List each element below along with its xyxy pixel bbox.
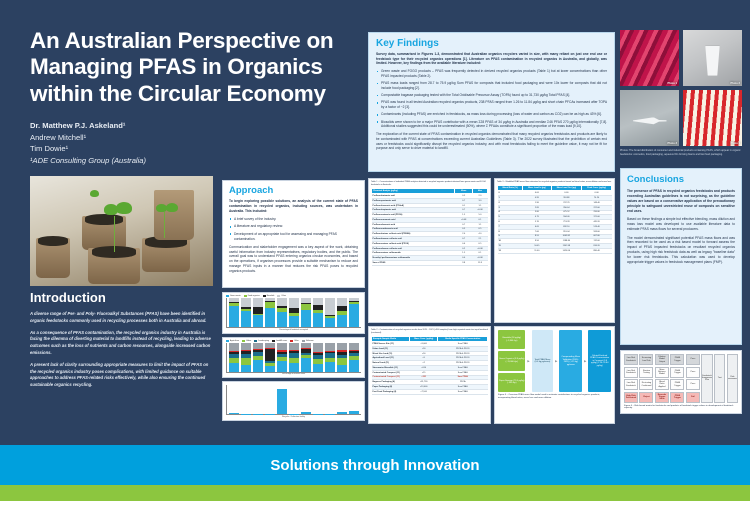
chart-bar xyxy=(253,385,263,414)
chart-bar-segment xyxy=(229,343,239,351)
chart-stack: Green wasteFood organicsBiosolidsOther P… xyxy=(222,292,365,424)
chart-bar-segment xyxy=(349,304,359,327)
flow-inputs-column: Biosolids (34 µg/kg) (~1,800 t/yr) Green… xyxy=(498,330,525,392)
chart-bar xyxy=(253,298,263,327)
key-findings-outro: The exploration of the current state of … xyxy=(376,132,607,151)
matrix-side-box: Test xyxy=(714,354,725,403)
legend-entry: Other xyxy=(277,295,286,297)
arrow-icon: ▶ xyxy=(584,359,586,363)
chart-bar-segment xyxy=(289,316,299,327)
approach-lead: To begin exploring possible solutions, a… xyxy=(229,199,358,214)
legend-entry: Urban xyxy=(242,340,251,342)
chart-bar xyxy=(301,298,311,327)
chart-3-xlabel: Recycler / Collection facility xyxy=(226,416,361,418)
tagline-band: Solutions through Innovation xyxy=(0,445,750,485)
chart-bar-segment xyxy=(337,315,347,327)
sprout-leaf xyxy=(90,190,99,197)
flow-stage-box: Diluted Finished PFAS Concentration in C… xyxy=(588,330,611,392)
matrix-cell: Blend Ratio Applied xyxy=(655,379,669,390)
chart-bar xyxy=(229,385,239,414)
legend-entry: Green waste xyxy=(226,295,241,297)
title-block: An Australian Perspective on Managing PF… xyxy=(30,28,360,167)
matrix-cell: Low Risk Feedstock xyxy=(624,367,638,378)
table-cell: <7,100 xyxy=(409,389,438,394)
flow-stage-box: Total PFAS Mass (0.6 kg µg/mass) xyxy=(532,330,553,392)
table-1-note: Table 1 – Concentrations of individual P… xyxy=(371,181,488,186)
legend-label: Agriculture xyxy=(230,340,239,342)
approach-item: Development of an appropriate tool for a… xyxy=(229,232,358,242)
chart-bar-segment xyxy=(313,343,323,352)
legend-swatch xyxy=(226,295,229,297)
chart-figure-3: Recycler / Collection facility xyxy=(222,381,365,421)
legend-swatch xyxy=(226,340,229,342)
introduction-paragraph: A diverse range of Per- and Poly- Fluoro… xyxy=(30,311,213,325)
sample-media-table: Table 2 – Contamination of recycled orga… xyxy=(368,326,491,424)
matrix-cell: Screening Low Risk xyxy=(639,354,653,365)
sprout-leaf xyxy=(166,203,178,212)
legend-swatch xyxy=(290,340,293,342)
conclusions-heading: Conclusions xyxy=(627,174,735,185)
sprout-leaf xyxy=(116,202,132,214)
matrix-cell: PFAS Trigger xyxy=(670,392,684,403)
legend-label: Landfill cover xyxy=(276,340,287,342)
table-cell: 11.40 xyxy=(523,248,551,253)
author-third: Tim Dowie¹ xyxy=(30,143,360,155)
mass-flow-diagram: Biosolids (34 µg/kg) (~1,800 t/yr) Green… xyxy=(494,326,615,424)
chart-bar xyxy=(337,343,347,372)
footer-banner: Solutions through Innovation xyxy=(0,445,750,519)
matrix-cell: Re-testing Confirmed xyxy=(639,379,653,390)
chart-bar-segment xyxy=(337,298,347,306)
chart-bar xyxy=(337,385,347,414)
table-3-note: Table 3 – Modelled PFAS mass flow estima… xyxy=(497,181,612,184)
chart-figure-1: Green wasteFood organicsBiosolidsOther P… xyxy=(222,292,365,334)
chart-bar-segment xyxy=(253,360,263,372)
key-findings-list: Green waste and FOGO products – PFAS was… xyxy=(376,69,607,129)
table-1-body: Perfluorobutanoic acid0.52.0Perfluoropen… xyxy=(372,194,488,266)
approach-panel: Approach To begin exploring possible sol… xyxy=(222,180,365,288)
tagline-text: Solutions through Innovation xyxy=(270,457,479,474)
flow-row: Biosolids (34 µg/kg) (~1,800 t/yr) Green… xyxy=(498,330,611,392)
chart-1-plot xyxy=(226,298,361,328)
chart-bar-segment xyxy=(289,343,299,351)
table-2: Example Sample Media Mass Conc. (µg/kg) … xyxy=(371,336,488,395)
chart-bar xyxy=(313,343,323,372)
key-findings-heading: Key Findings xyxy=(376,38,607,49)
key-finding-item: PFAS mass loads ranged from 28.7 to 75.9… xyxy=(376,81,607,90)
chart-bar xyxy=(301,385,311,414)
chart-2-plot xyxy=(226,343,361,373)
chart-bar-segment xyxy=(313,298,323,305)
introduction-panel: Introduction A diverse range of Per- and… xyxy=(30,290,213,394)
table-cell: 1426.56 xyxy=(551,248,582,253)
legend-entry: Biosolids xyxy=(263,295,275,297)
chart-bar-segment xyxy=(301,412,311,414)
legend-entry: Landscaping xyxy=(254,340,269,342)
matrix-cell: Reject xyxy=(639,392,653,403)
table-cell: 11.8 xyxy=(472,261,487,266)
green-stripe xyxy=(0,485,750,501)
table-row: Sum of PFAS3.811.8 xyxy=(372,261,488,266)
chart-bar xyxy=(265,385,275,414)
key-finding-item: Compostable bagasse packaging tested wit… xyxy=(376,93,607,98)
introduction-paragraph: A present lack of clarity surrounding ap… xyxy=(30,362,213,389)
chart-2-legend: AgricultureUrbanLandscapingLandfill cove… xyxy=(226,340,361,342)
risk-matrix-grid: Low Risk Feedstock Screening Low Risk Di… xyxy=(624,354,738,403)
legend-swatch xyxy=(254,340,257,342)
chart-bar-segment xyxy=(337,365,347,372)
sample-media-table-wrap: Table 2 – Contamination of recycled orga… xyxy=(368,326,491,424)
popcorn-photo: Photo 4 xyxy=(683,90,742,146)
introduction-paragraph: As a consequence of PFAS contamination, … xyxy=(30,330,213,357)
conclusions-panel: Conclusions The presence of PFAS in recy… xyxy=(620,168,742,345)
legend-entry: Other xyxy=(290,340,299,342)
chart-bar-segment xyxy=(241,298,251,307)
table-cell: 890.40 xyxy=(582,248,612,253)
key-finding-item: Biosolids were shown to be a major PFAS … xyxy=(376,120,607,129)
matrix-cell: Exceeds Trigger Value xyxy=(655,392,669,403)
coffee-cup-photo: Photo 2 xyxy=(683,30,742,86)
key-findings-panel: Key Findings Survey data, summarised in … xyxy=(368,32,615,172)
conclusions-paragraph: Based on these findings a simple but eff… xyxy=(627,217,735,232)
chart-1-xlabel: Percentage of feedstock accepted xyxy=(226,329,361,331)
key-finding-item: Contaminants (including PFAS) are enrich… xyxy=(376,112,607,117)
lipstick-photo: Photo 1 xyxy=(620,30,679,86)
legend-swatch xyxy=(277,295,280,297)
chart-figure-2: AgricultureUrbanLandscapingLandfill cove… xyxy=(222,337,365,379)
legend-label: Other xyxy=(281,295,286,297)
chart-bar xyxy=(337,298,347,327)
author-affiliation: ¹ADE Consulting Group (Australia) xyxy=(30,155,360,167)
flow-input-box: Paper Sewage (75.9 µg/kg) (~500 t/yr) xyxy=(498,373,525,392)
chart-1-legend: Green wasteFood organicsBiosolidsOther xyxy=(226,295,361,297)
chart-bar xyxy=(325,298,335,327)
table-cell: 12 xyxy=(498,248,523,253)
chart-2-xlabel: Percentage of market share xyxy=(226,373,361,375)
matrix-cell: Fail xyxy=(686,392,700,403)
matrix-cell: PFAS Trigger xyxy=(670,354,684,365)
chart-bar-segment xyxy=(277,343,287,351)
introduction-heading: Introduction xyxy=(30,290,213,305)
chart-bar-segment xyxy=(241,311,251,327)
pfas-analyte-table-wrap: Table 1 – Concentrations of individual P… xyxy=(368,178,491,323)
matrix-side-box: Feedstock Management Plan xyxy=(701,354,712,403)
photo-caption: Photo 2 xyxy=(730,82,740,85)
chart-bar-segment xyxy=(241,358,251,366)
author-list: Dr. Matthew P.J. Askeland¹ Andrew Mitche… xyxy=(30,120,360,167)
matrix-side-box: Risk Assessment xyxy=(727,354,738,403)
arrow-icon: ▶ xyxy=(555,359,557,363)
chart-bar-segment xyxy=(325,298,335,315)
chart-bar xyxy=(229,298,239,327)
approach-item: A literature and regulatory review. xyxy=(229,224,358,229)
chart-bar-segment xyxy=(229,363,239,372)
legend-entry: Agriculture xyxy=(226,340,239,342)
poster-title: An Australian Perspective on Managing PF… xyxy=(30,28,360,107)
chart-bar xyxy=(325,385,335,414)
chart-bar-segment xyxy=(253,298,263,307)
legend-swatch xyxy=(272,340,275,342)
legend-label: Biosolids xyxy=(267,295,275,297)
chart-bar xyxy=(289,385,299,414)
legend-entry: Landfill cover xyxy=(272,340,287,342)
chart-bar-segment xyxy=(277,361,287,371)
chart-bar-segment xyxy=(253,315,263,327)
chart-bar-segment xyxy=(337,412,347,414)
risk-matrix-wrap: Low Risk Feedstock Screening Low Risk Di… xyxy=(620,350,742,414)
legend-label: Green waste xyxy=(230,295,241,297)
chart-bar xyxy=(301,343,311,372)
matrix-cell: Routine Testing xyxy=(639,367,653,378)
chart-bar-segment xyxy=(325,343,335,351)
flow-input-box: Green Organics (3.8 µg/kg) (~11,000 t/yr… xyxy=(498,351,525,370)
stem xyxy=(114,216,115,252)
table-3-body: 00.000.000.0010.95118.8874.2021.90237.76… xyxy=(498,191,612,253)
table-row: Fast Food Packaging (4)<7,100Sum PFAS xyxy=(372,389,488,394)
soil xyxy=(85,214,123,225)
chart-bar xyxy=(241,298,251,327)
key-finding-item: Green waste and FOGO products – PFAS was… xyxy=(376,69,607,78)
table-row: 1211.401426.56890.40 xyxy=(498,248,612,253)
chart-bar-segment xyxy=(289,298,299,308)
chart-bar-segment xyxy=(277,312,287,327)
matrix-cell: PFAS Trigger xyxy=(670,379,684,390)
chart-bar xyxy=(289,343,299,372)
matrix-cell: Mass Balance Model xyxy=(655,367,669,378)
conclusions-paragraph: The presence of PFAS in recycled organic… xyxy=(627,189,735,214)
legend-swatch xyxy=(302,340,305,342)
chart-bar xyxy=(349,385,359,414)
mass-flow-table-wrap: Table 3 – Modelled PFAS mass flow estima… xyxy=(494,178,615,323)
matrix-cell: High Risk Feedstock xyxy=(624,392,638,403)
key-findings-intro: Survey data, summarised in Figures 1-3, … xyxy=(376,52,607,66)
chart-bar xyxy=(265,343,275,372)
chart-bar xyxy=(229,343,239,372)
table-cell: Sum PFAS xyxy=(438,389,488,394)
matrix-cell: Low Risk Feedstock xyxy=(624,354,638,365)
flow-stage-1-column: Total PFAS Mass (0.6 kg µg/mass) xyxy=(532,330,553,392)
chart-bar xyxy=(265,298,275,327)
matrix-cell: Low Risk Feedstock xyxy=(624,379,638,390)
table-2-note: Table 2 – Contamination of recycled orga… xyxy=(371,329,488,334)
aircraft-photo: Photo 3 xyxy=(620,90,679,146)
matrix-cell: Dilution Model Output xyxy=(655,354,669,365)
chart-bar-segment xyxy=(325,362,335,371)
chart-bar xyxy=(325,343,335,372)
stem xyxy=(164,212,165,238)
matrix-cell: Pass xyxy=(686,367,700,378)
legend-entry: Food organics xyxy=(244,295,260,297)
approach-item: A brief survey of the industry. xyxy=(229,217,358,222)
chart-bar-segment xyxy=(265,308,275,327)
chart-bar xyxy=(277,343,287,372)
chart-3-plot xyxy=(226,385,361,415)
chart-bar-segment xyxy=(301,358,311,371)
mass-flow-table: Table 3 – Modelled PFAS mass flow estima… xyxy=(494,178,615,323)
chart-bar xyxy=(289,298,299,327)
matrix-cell: Pass xyxy=(686,379,700,390)
approach-list: A brief survey of the industry. A litera… xyxy=(229,217,358,242)
chart-bar-segment xyxy=(349,360,359,371)
table-2-body: PFAS Source Site (11)<5,000Sum PFASUrban… xyxy=(372,342,488,395)
chart-bar-segment xyxy=(349,411,359,414)
flow-stage-3-column: Diluted Finished PFAS Concentration in C… xyxy=(588,330,611,392)
chart-bar-segment xyxy=(229,413,239,414)
arrow-icon: ▶ xyxy=(527,359,529,363)
chart-bar xyxy=(349,343,359,372)
chart-bar-segment xyxy=(349,343,359,351)
chart-bar-segment xyxy=(277,389,287,414)
mass-flow-diagram-wrap: Biosolids (34 µg/kg) (~1,800 t/yr) Green… xyxy=(494,326,615,424)
key-finding-item: PFAS was found in all tested Australian … xyxy=(376,100,607,109)
seedlings-in-peat-pots-photo xyxy=(30,176,213,286)
chart-bar xyxy=(253,343,263,372)
flow-stage-2-column: Compounding Mass Validation (2020–2021) … xyxy=(559,330,582,392)
approach-heading: Approach xyxy=(229,185,358,196)
soil xyxy=(38,236,68,246)
table-cell: 3.8 xyxy=(455,261,472,266)
photo-caption: Photo 1 xyxy=(667,82,677,85)
table-3: Blend Ratio (%) Mass Load In (µg) Mass L… xyxy=(497,185,612,254)
chart-bar-segment xyxy=(265,366,275,371)
chart-bar-segment xyxy=(301,310,311,327)
chart-bar xyxy=(241,385,251,414)
author-lead: Dr. Matthew P.J. Askeland¹ xyxy=(30,120,360,132)
legend-label: Urban xyxy=(246,340,251,342)
table-cell: Sum of PFAS xyxy=(372,261,455,266)
chart-bar-segment xyxy=(337,343,347,351)
chart-bar-segment xyxy=(241,343,251,350)
legend-label: Other xyxy=(294,340,299,342)
chart-bar xyxy=(313,385,323,414)
poster-canvas: An Australian Perspective on Managing PF… xyxy=(0,0,750,519)
chart-bar xyxy=(277,298,287,327)
photo-grid: Photo 1 Photo 2 Photo 3 Photo 4 xyxy=(620,30,742,146)
table-1: Chemical Analyte (µg/kg) Mean Max Perflu… xyxy=(371,188,488,266)
matrix-figure-caption: Figure 4 – Risk based matrix for feedsto… xyxy=(624,405,738,411)
approach-body: Communication and stakeholder engagement… xyxy=(229,245,358,275)
chart-bar xyxy=(313,298,323,327)
peat-pot-stack xyxy=(154,190,194,240)
matrix-cell: Pass xyxy=(686,354,700,365)
legend-entry: Unknown xyxy=(302,340,314,342)
legend-swatch xyxy=(242,340,245,342)
chart-bar-segment xyxy=(313,364,323,372)
author-second: Andrew Mitchell¹ xyxy=(30,132,360,144)
flow-stage-box: Compounding Mass Validation (2020–2021) … xyxy=(559,330,582,392)
matrix-cell: PFAS Trigger xyxy=(670,367,684,378)
chart-bar-segment xyxy=(229,306,239,327)
legend-label: Unknown xyxy=(306,340,314,342)
chart-bar-segment xyxy=(313,313,323,327)
legend-swatch xyxy=(244,295,247,297)
photo-montage: Photo 1 Photo 2 Photo 3 Photo 4 Photos: … xyxy=(620,30,742,162)
photo-caption: Photo 3 xyxy=(667,142,677,145)
legend-label: Landscaping xyxy=(258,340,269,342)
chart-bar xyxy=(349,298,359,327)
legend-swatch xyxy=(263,295,266,297)
chart-bar-segment xyxy=(265,349,275,361)
pfas-analyte-table: Table 1 – Concentrations of individual P… xyxy=(368,178,491,323)
flow-input-box: Biosolids (34 µg/kg) (~1,800 t/yr) xyxy=(498,330,525,349)
chart-bar-segment xyxy=(241,365,251,371)
chart-bar-segment xyxy=(289,363,299,371)
risk-matrix-figure: Low Risk Feedstock Screening Low Risk Di… xyxy=(620,350,742,428)
chart-bar xyxy=(277,385,287,414)
flow-figure-caption: Figure 4 – Overview PFAS mass flow model… xyxy=(498,394,611,400)
photo-montage-caption: Photos: The broad distribution of consum… xyxy=(620,149,742,156)
chart-bar-segment xyxy=(325,318,335,327)
conclusions-paragraph: The model demonstrated significant poten… xyxy=(627,236,735,266)
chart-bar xyxy=(241,343,251,372)
legend-label: Food organics xyxy=(248,295,260,297)
white-stripe xyxy=(0,501,750,519)
chart-bar-segment xyxy=(277,298,287,306)
table-cell: Fast Food Packaging (4) xyxy=(372,389,410,394)
photo-caption: Photo 4 xyxy=(730,142,740,145)
